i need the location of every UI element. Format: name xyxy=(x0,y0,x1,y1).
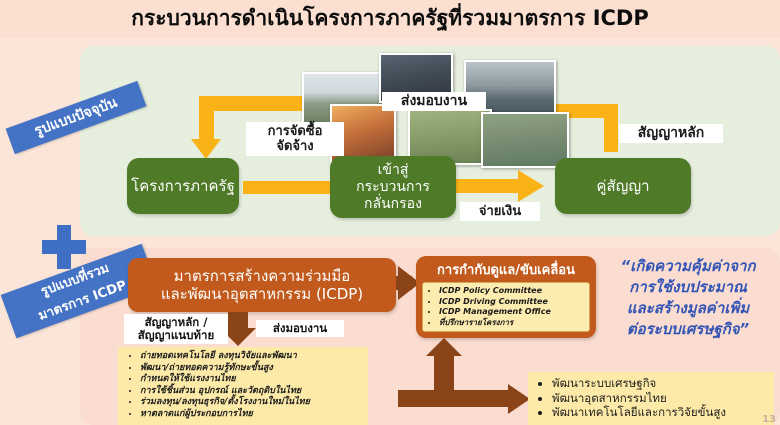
list-item: ICDP Management Office xyxy=(439,307,585,318)
list-item: ICDP Driving Committee xyxy=(439,297,585,308)
box-government-project-label: โครงการภาครัฐ xyxy=(131,178,235,195)
icdp-measure-line-2: และพัฒนาอุตสาหกรรม (ICDP) xyxy=(161,285,363,303)
box-screening-line-1: เข้าสู่ xyxy=(356,162,430,179)
list-item: ร่วมลงทุน/ลงทุนธุรกิจ/ตั้งโรงงานใหม่ในไท… xyxy=(140,397,364,409)
caption-main-contract: สัญญาหลัก xyxy=(619,124,723,143)
icdp-measure-line-1: มาตรการสร้างความร่วมมือ xyxy=(161,267,363,285)
list-item: หาตลาดแก่ผู้ประกอบการไทย xyxy=(140,409,364,421)
outcome-arrowhead-right xyxy=(508,384,530,414)
box-contracting-party[interactable]: คู่สัญญา xyxy=(555,158,691,214)
quote-line-4: ต่อระบบเศรษฐกิจ” xyxy=(596,319,780,340)
quote-line-2: การใช้งบประมาณ xyxy=(596,277,780,298)
box-screening-line-3: กลั่นกรอง xyxy=(356,196,430,213)
outcome-arrowhead-up xyxy=(426,338,462,356)
delivery-arrowhead-down xyxy=(191,139,221,159)
caption-delivery-bottom: ส่งมอบงาน xyxy=(256,320,344,337)
box-contracting-party-label: คู่สัญญา xyxy=(596,178,649,195)
list-item: พัฒนาเทคโนโลยีและการวิจัยขั้นสูง xyxy=(552,405,770,420)
list-item: พัฒนาอุตสาหกรรมไทย xyxy=(552,391,770,406)
slide-canvas: กระบวนการดำเนินโครงการภาครัฐที่รวมมาตรกา… xyxy=(0,0,780,425)
governance-list: ICDP Policy Committee ICDP Driving Commi… xyxy=(422,282,590,332)
procurement-connector xyxy=(243,181,335,194)
list-item: พัฒนาระบบเศรษฐกิจ xyxy=(552,376,770,391)
caption-procurement-line-1: การจัดซื้อ xyxy=(252,124,338,139)
caption-delivery-top: ส่งมอบงาน xyxy=(382,92,486,111)
box-government-project[interactable]: โครงการภาครัฐ xyxy=(127,158,239,214)
governance-header: การกำกับดูแล/ขับเคลื่อน xyxy=(416,256,596,282)
payment-arrowhead xyxy=(518,170,544,202)
caption-contract-annex-line-2: สัญญาแนบท้าย xyxy=(129,329,223,342)
list-item: การใช้ชิ้นส่วน อุปกรณ์ และวัตถุดิบในไทย xyxy=(140,386,364,398)
list-item: ถ่ายทอดเทคโนโลยี ลงทุนวิจัยและพัฒนา xyxy=(140,351,364,363)
box-screening-line-2: กระบวนการ xyxy=(356,179,430,196)
outcome-arrow-horizontal xyxy=(398,390,514,407)
outcomes-list: พัฒนาระบบเศรษฐกิจ พัฒนาอุตสาหกรรมไทย พัฒ… xyxy=(528,372,774,425)
quote-line-3: และสร้างมูลค่าเพิ่ม xyxy=(596,298,780,319)
page-title: กระบวนการดำเนินโครงการภาครัฐที่รวมมาตรกา… xyxy=(0,2,780,35)
list-item: ที่ปรึกษารายโครงการ xyxy=(439,318,585,329)
caption-procurement-line-2: จัดจ้าง xyxy=(252,139,338,154)
box-governance[interactable]: การกำกับดูแล/ขับเคลื่อน ICDP Policy Comm… xyxy=(416,256,596,338)
quote-line-1: “เกิดความคุ้มค่าจาก xyxy=(596,256,780,277)
outcome-arrow-vertical xyxy=(434,352,454,400)
page-number: 13 xyxy=(762,414,776,425)
box-screening-process[interactable]: เข้าสู่ กระบวนการ กลั่นกรอง xyxy=(330,156,456,218)
plus-icon xyxy=(42,225,86,269)
caption-payment: จ่ายเงิน xyxy=(460,202,540,221)
list-item: พัฒนา/ถ่ายทอดความรู้ทักษะขั้นสูง xyxy=(140,363,364,375)
main-contract-elbow-vertical xyxy=(604,104,618,152)
caption-procurement: การจัดซื้อ จัดจ้าง xyxy=(246,122,344,156)
box-icdp-measure[interactable]: มาตรการสร้างความร่วมมือ และพัฒนาอุตสาหกร… xyxy=(128,258,396,312)
river-port-photo xyxy=(481,112,569,168)
list-item: ICDP Policy Committee xyxy=(439,286,585,297)
caption-contract-annex: สัญญาหลัก / สัญญาแนบท้าย xyxy=(124,314,228,344)
delivery-elbow-vertical xyxy=(199,96,214,144)
list-item: กำหนดให้ใช้แรงงานไทย xyxy=(140,374,364,386)
measures-list: ถ่ายทอดเทคโนโลยี ลงทุนวิจัยและพัฒนา พัฒน… xyxy=(118,347,368,425)
value-quote: “เกิดความคุ้มค่าจาก การใช้งบประมาณ และสร… xyxy=(596,256,780,340)
